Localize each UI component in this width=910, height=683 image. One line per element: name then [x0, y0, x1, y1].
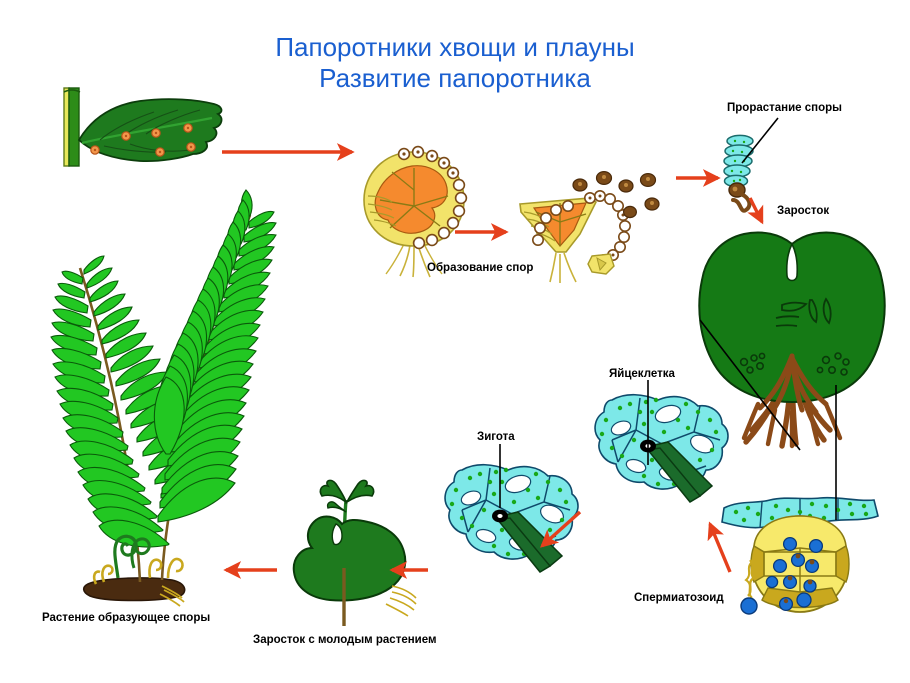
leader-archegonium	[700, 320, 800, 450]
arrow-antheridium-to-zygote	[710, 524, 730, 572]
germinating-spore	[724, 135, 753, 210]
label-zygote: Зигота	[477, 431, 515, 444]
archegonium-with-egg-cell	[595, 395, 728, 502]
label-spore-germination: Прорастание споры	[727, 102, 842, 115]
arrow-germination-to-prothallus	[750, 198, 762, 222]
label-prothallus-with-young-plant: Заросток с молодым растением	[253, 634, 437, 647]
antheridium-with-spermatozoids	[722, 498, 878, 614]
title-line-2: Развитие папоротника	[319, 63, 591, 93]
flow-arrows	[222, 152, 762, 572]
title-line-1: Папоротники хвощи и плауны	[275, 32, 634, 62]
label-spore-formation: Образование спор	[427, 262, 533, 275]
label-prothallus: Заросток	[777, 205, 829, 218]
leader-spore-germination	[742, 118, 778, 163]
archegonium-with-zygote	[445, 465, 578, 572]
prothallus-with-young-fern	[294, 480, 416, 626]
sporangium-closed	[364, 147, 466, 277]
fern-leaf-with-sori	[64, 88, 221, 166]
heart-shaped-prothallus	[699, 232, 884, 446]
sporangium-open-releasing-spores	[520, 172, 659, 283]
label-spore-forming-plant: Растение образующее споры	[42, 612, 210, 625]
label-egg-cell: Яйцеклетка	[609, 368, 675, 381]
label-spermatozoid: Спермиатозоид	[634, 592, 724, 605]
adult-fern-plant	[51, 190, 276, 606]
fern-life-cycle-diagram: Папоротники хвощи и плауныРазвитие папор…	[0, 0, 910, 683]
leader-lines	[500, 118, 836, 520]
page-title: Папоротники хвощи и плауныРазвитие папор…	[0, 32, 910, 94]
arrow-egg-to-zygote	[542, 512, 580, 546]
